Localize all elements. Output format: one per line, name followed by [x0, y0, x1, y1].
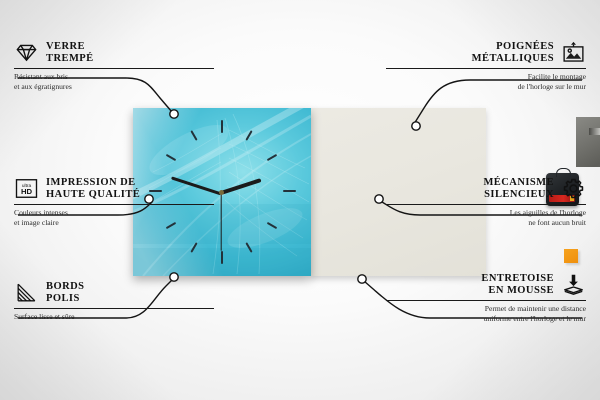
feature-desc-line2: et aux égratignures [14, 82, 214, 91]
gear-icon [561, 176, 586, 201]
feature-title-line2: SILENCIEUX [483, 189, 554, 201]
feature-desc-line1: Couleurs intenses [14, 208, 214, 217]
feature-poignees-metalliques: POIGNÉES MÉTALLIQUES Facilite le montage… [386, 40, 586, 91]
feature-desc-line2: de l'horloge sur le mur [386, 82, 586, 91]
feature-header: MÉCANISME SILENCIEUX [386, 176, 586, 201]
feature-title-line2: MÉTALLIQUES [472, 53, 554, 65]
feature-divider [386, 68, 586, 69]
feature-header: POIGNÉES MÉTALLIQUES [386, 40, 586, 65]
feature-impression-haute-qualite: ultra HD IMPRESSION DE HAUTE QUALITÉ Cou… [14, 176, 214, 227]
feature-title: POIGNÉES MÉTALLIQUES [472, 41, 554, 64]
feature-title: ENTRETOISE EN MOUSSE [481, 273, 554, 296]
tick-3 [283, 190, 296, 192]
feature-description: Couleurs intenses et image claire [14, 208, 214, 226]
feature-desc-line1: Facilite le montage [386, 72, 586, 81]
feature-desc-line2: uniforme entre l'horloge et le mur [386, 314, 586, 323]
feature-desc-line2: et image claire [14, 218, 214, 227]
feature-title: IMPRESSION DE HAUTE QUALITÉ [46, 177, 140, 200]
tick-12 [221, 120, 223, 133]
feature-title-line2: EN MOUSSE [481, 285, 554, 297]
feature-mecanisme-silencieux: MÉCANISME SILENCIEUX Les aiguilles de l'… [386, 176, 586, 227]
feature-divider [14, 68, 214, 69]
feature-desc-line2: ne font aucun bruit [386, 218, 586, 227]
connector-dot-entretoise [358, 275, 366, 283]
feature-divider [386, 204, 586, 205]
feature-description: Facilite le montage de l'horloge sur le … [386, 72, 586, 90]
feature-desc-line1: Permet de maintenir une distance [386, 304, 586, 313]
foam-spacer-icon [561, 272, 586, 297]
feature-title: MÉCANISME SILENCIEUX [483, 177, 554, 200]
feature-title-line1: BORDS [46, 281, 84, 293]
framed-picture-icon [561, 40, 586, 65]
feature-header: ENTRETOISE EN MOUSSE [386, 272, 586, 297]
feature-title: VERRE TREMPÉ [46, 41, 94, 64]
feature-bords-polis: BORDS POLIS Surface lisse et sûre [14, 280, 214, 322]
feature-header: BORDS POLIS [14, 280, 214, 305]
feature-description: Résistant aux bris et aux égratignures [14, 72, 214, 90]
feature-title-line1: MÉCANISME [483, 177, 554, 189]
diamond-icon [14, 40, 39, 65]
feature-divider [14, 204, 214, 205]
feature-title-line1: IMPRESSION DE [46, 177, 140, 189]
foam-spacer [564, 249, 578, 263]
feature-desc-line1: Résistant aux bris [14, 72, 214, 81]
polished-edge-icon [14, 280, 39, 305]
feature-entretoise-en-mousse: ENTRETOISE EN MOUSSE Permet de maintenir… [386, 272, 586, 323]
feature-title: BORDS POLIS [46, 281, 84, 304]
feature-title-line1: VERRE [46, 41, 94, 53]
feature-title-line1: ENTRETOISE [481, 273, 554, 285]
infographic-canvas: VERRE TREMPÉ Résistant aux bris et aux é… [0, 0, 600, 400]
feature-title-line1: POIGNÉES [472, 41, 554, 53]
ultra-hd-icon: ultra HD [14, 176, 39, 201]
clock-center-pin [219, 190, 224, 195]
feature-title-line2: POLIS [46, 293, 84, 305]
feature-desc-line1: Surface lisse et sûre [14, 312, 214, 321]
svg-text:HD: HD [21, 187, 33, 196]
tick-6 [221, 251, 223, 264]
second-hand [220, 193, 221, 251]
feature-description: Les aiguilles de l'horloge ne font aucun… [386, 208, 586, 226]
feature-title-line2: TREMPÉ [46, 53, 94, 65]
metal-plate [576, 117, 600, 167]
feature-description: Surface lisse et sûre [14, 312, 214, 321]
feature-title-line2: HAUTE QUALITÉ [46, 189, 140, 201]
feature-header: ultra HD IMPRESSION DE HAUTE QUALITÉ [14, 176, 214, 201]
feature-description: Permet de maintenir une distance uniform… [386, 304, 586, 322]
feature-verre-trempe: VERRE TREMPÉ Résistant aux bris et aux é… [14, 40, 214, 91]
feature-header: VERRE TREMPÉ [14, 40, 214, 65]
feature-divider [386, 300, 586, 301]
feature-divider [14, 308, 214, 309]
feature-desc-line1: Les aiguilles de l'horloge [386, 208, 586, 217]
